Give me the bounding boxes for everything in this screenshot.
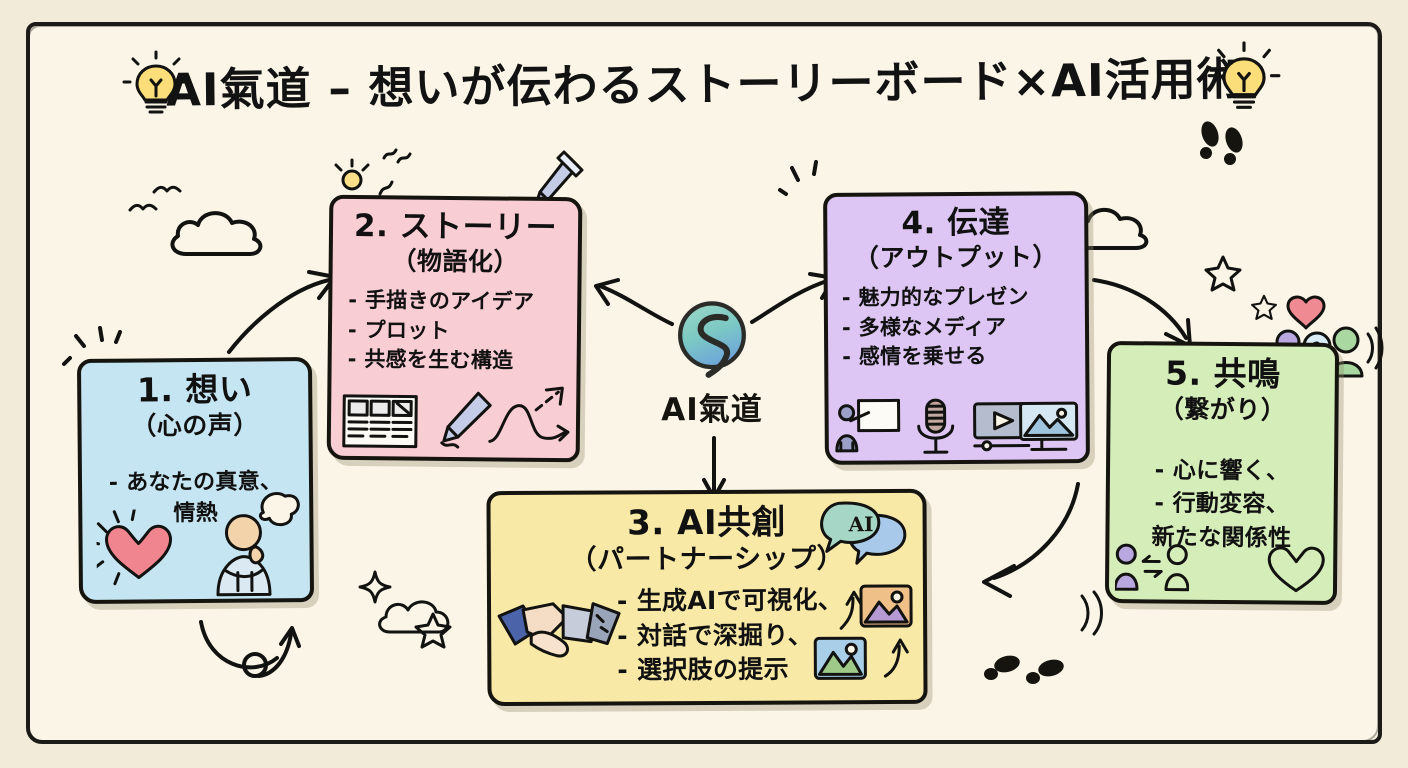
ai-badge-label: AI: [848, 512, 874, 536]
card5-bullets: - 心に響く、 - 行動変容、 新たな関係性: [1117, 454, 1326, 556]
image-swap-icon: [809, 580, 920, 691]
card5-bullet-2: - 行動変容、: [1118, 487, 1326, 522]
storyboard-icon: [341, 392, 420, 451]
heart-icon: [96, 509, 183, 592]
card4-bullet-1: - 魅力的なプレゼン: [842, 282, 1077, 313]
card4-heading: 4. 伝達: [835, 205, 1076, 241]
card-ai-kyoso[interactable]: 3. AI共創 （パートナーシップ） - 生成AIで可視化、 - 対話で深掘り、…: [486, 489, 927, 706]
card2-bullets: - 手描きのアイデア - プロット - 共感を生む構造: [340, 286, 570, 378]
handshake-icon: [497, 595, 621, 682]
card4-bullets: - 魅力的なプレゼン - 多様なメディア - 感情を乗せる: [836, 282, 1078, 373]
monitor-image-icon: [1018, 401, 1080, 453]
hub-label: AI氣道: [612, 384, 812, 429]
page-title: AI氣道 – 想いが伝わるストーリーボード×AI活用術: [165, 42, 1242, 118]
people-exchange-icon: [1115, 543, 1189, 594]
card2-bullet-3: - 共感を生む構造: [348, 345, 569, 377]
card-omoi[interactable]: 1. 想い （心の声） - あなたの真意、 情熱: [77, 357, 314, 604]
card5-subtitle: （繋がり）: [1118, 394, 1326, 426]
card5-heading: 5. 共鳴: [1119, 355, 1327, 394]
center-hub: AI氣道: [612, 294, 812, 429]
card4-subtitle: （アウトプット）: [835, 242, 1076, 274]
card2-bullet-1: - 手描きのアイデア: [348, 286, 569, 318]
card1-heading: 1. 想い: [89, 371, 300, 410]
card4-bullet-3: - 感情を乗せる: [842, 342, 1077, 373]
ai-chat-bubble-icon: AI: [812, 499, 908, 566]
card-story[interactable]: 2. ストーリー （物語化） - 手描きのアイデア - プロット - 共感を生む…: [327, 195, 583, 463]
card-kyomei[interactable]: 5. 共鳴 （繋がり） - 心に響く、 - 行動変容、 新たな関係性: [1105, 341, 1339, 605]
microphone-icon: [910, 398, 960, 456]
card2-subtitle: （物語化）: [341, 246, 570, 278]
card2-bullet-2: - プロット: [348, 315, 569, 347]
card4-bullet-2: - 多様なメディア: [842, 312, 1077, 343]
infographic-canvas: AI氣道 – 想いが伝わるストーリーボード×AI活用術: [0, 0, 1408, 768]
swirl-circle-logo: [669, 294, 755, 380]
card5-bullet-1: - 心に響く、: [1118, 454, 1326, 489]
heart-icon: [1267, 542, 1325, 595]
title-row: AI氣道 – 想いが伝わるストーリーボード×AI活用術: [0, 48, 1408, 113]
card1-subtitle: （心の声）: [89, 410, 300, 442]
thinking-person-icon: [207, 486, 304, 599]
card-dentatsu[interactable]: 4. 伝達 （アウトプット） - 魅力的なプレゼン - 多様なメディア - 感情…: [823, 191, 1090, 465]
card2-heading: 2. ストーリー: [341, 209, 570, 246]
presenter-icon: [834, 398, 900, 454]
curve-arrow-icon: [488, 385, 575, 452]
